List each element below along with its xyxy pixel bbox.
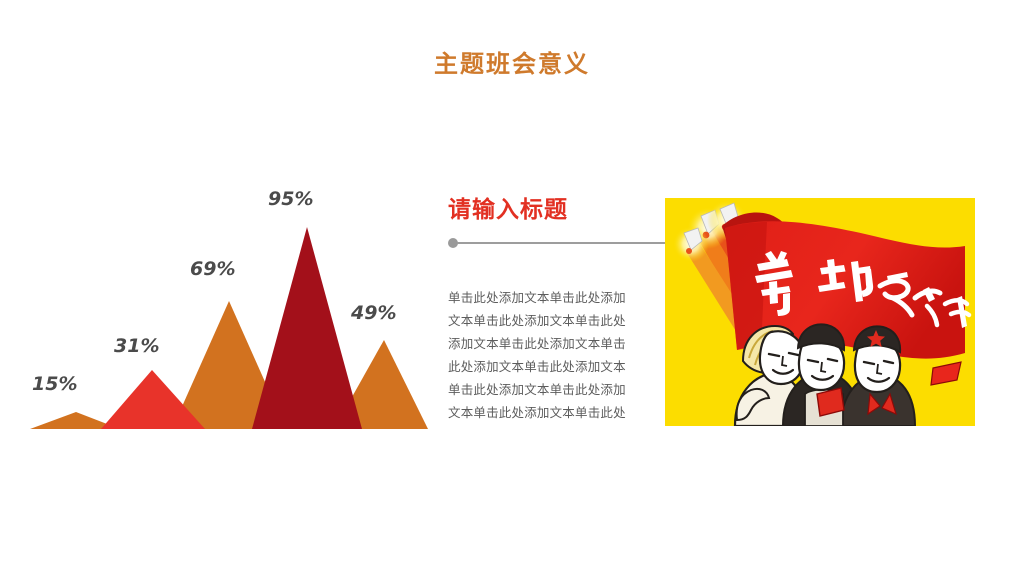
workers-group	[735, 324, 915, 426]
poster-artwork	[665, 198, 975, 426]
section-title: 请输入标题	[448, 195, 663, 225]
body-copy-line: 单击此处添加文本单击此处添加	[448, 286, 652, 309]
chart-data-label-2: 31%	[114, 335, 159, 357]
poster-image	[665, 198, 975, 426]
body-copy-line: 单击此处添加文本单击此处添加	[448, 378, 652, 401]
body-copy: 单击此处添加文本单击此处添加 文本单击此处添加文本单击此处 添加文本单击此处添加…	[448, 286, 652, 424]
body-copy-line: 此处添加文本单击此处添加文本	[448, 355, 652, 378]
chart-data-label-5: 49%	[351, 302, 396, 324]
chart-data-label-3: 69%	[190, 258, 235, 280]
body-copy-line: 文本单击此处添加文本单击此处	[448, 309, 652, 332]
section-heading-block: 请输入标题	[448, 195, 663, 225]
chart-data-label-1: 15%	[32, 373, 77, 395]
chart-data-label-4: 95%	[268, 188, 313, 210]
peak-area-chart: 15% 31% 69% 95% 49%	[0, 170, 440, 440]
body-copy-line: 添加文本单击此处添加文本单击	[448, 332, 652, 355]
slide-canvas: 主题班会意义 15% 31% 69% 95% 49% 请输入标题 单击此处添加文…	[0, 0, 1024, 576]
connector-line	[457, 242, 666, 244]
peak-shape-4	[252, 227, 362, 429]
torch-flame-icon	[673, 226, 709, 262]
page-title: 主题班会意义	[0, 44, 1024, 79]
connector-rule	[448, 238, 666, 249]
body-copy-line: 文本单击此处添加文本单击此处	[448, 401, 652, 424]
